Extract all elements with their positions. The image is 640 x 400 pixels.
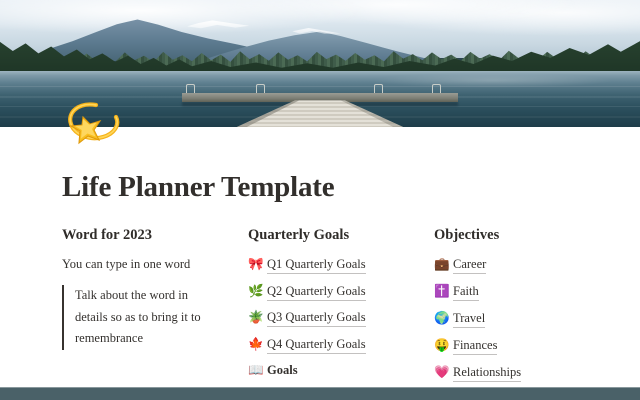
- dock-ladder: [186, 84, 195, 93]
- list-item[interactable]: 🪴 Q3 Quarterly Goals: [248, 310, 434, 327]
- growing-heart-icon: 💗: [434, 366, 449, 379]
- list-item[interactable]: 💼 Career: [434, 257, 620, 274]
- herb-icon: 🌿: [248, 285, 263, 298]
- open-book-icon: 📖: [248, 364, 263, 377]
- list-item-label[interactable]: Q1 Quarterly Goals: [267, 257, 366, 274]
- potted-plant-icon: 🪴: [248, 311, 263, 324]
- list-item[interactable]: 💗 Relationships: [434, 365, 620, 382]
- shooting-star-icon[interactable]: [62, 93, 128, 159]
- money-mouth-face-icon: 🤑: [434, 339, 449, 352]
- column-heading: Quarterly Goals: [248, 227, 434, 244]
- dock-ladder: [432, 84, 441, 93]
- list-item-label[interactable]: Finances: [453, 338, 497, 355]
- dock-ladder: [256, 84, 265, 93]
- globe-icon: 🌍: [434, 312, 449, 325]
- dock-ladder: [374, 84, 383, 93]
- list-item-label[interactable]: Q3 Quarterly Goals: [267, 310, 366, 327]
- list-item-label[interactable]: Travel: [453, 311, 485, 328]
- list-item-label[interactable]: Q2 Quarterly Goals: [267, 284, 366, 301]
- bottom-status-bar: [0, 387, 640, 400]
- latin-cross-icon: ✝️: [434, 285, 449, 298]
- list-item[interactable]: ✝️ Faith: [434, 284, 620, 301]
- column-word-for-2023: Word for 2023 You can type in one word T…: [62, 227, 248, 400]
- list-item[interactable]: 📖 Goals: [248, 363, 434, 379]
- list-item[interactable]: 🌿 Q2 Quarterly Goals: [248, 284, 434, 301]
- list-item-label[interactable]: Faith: [453, 284, 479, 301]
- page-title[interactable]: Life Planner Template: [62, 171, 334, 204]
- column-paragraph: You can type in one word: [62, 257, 248, 272]
- briefcase-icon: 💼: [434, 258, 449, 271]
- list-item-label[interactable]: Relationships: [453, 365, 521, 382]
- list-item-label[interactable]: Q4 Quarterly Goals: [267, 337, 366, 354]
- water-ripple: [0, 86, 640, 88]
- column-objectives: Objectives 💼 Career ✝️ Faith 🌍 Travel 🤑 …: [434, 227, 620, 400]
- list-item-label[interactable]: Career: [453, 257, 486, 274]
- maple-leaf-icon: 🍁: [248, 338, 263, 351]
- list-item-label[interactable]: Goals: [267, 363, 298, 379]
- list-item[interactable]: 🌍 Travel: [434, 311, 620, 328]
- column-heading: Objectives: [434, 227, 620, 244]
- quote-block: Talk about the word in details so as to …: [62, 285, 212, 350]
- column-list: Word for 2023 You can type in one word T…: [62, 227, 622, 400]
- list-item[interactable]: 🤑 Finances: [434, 338, 620, 355]
- ribbon-icon: 🎀: [248, 258, 263, 271]
- list-item[interactable]: 🎀 Q1 Quarterly Goals: [248, 257, 434, 274]
- page-body: Life Planner Template Word for 2023 You …: [0, 127, 640, 387]
- column-quarterly-goals: Quarterly Goals 🎀 Q1 Quarterly Goals 🌿 Q…: [248, 227, 434, 400]
- notion-page: Life Planner Template Word for 2023 You …: [0, 0, 640, 400]
- column-heading: Word for 2023: [62, 227, 248, 244]
- list-item[interactable]: 🍁 Q4 Quarterly Goals: [248, 337, 434, 354]
